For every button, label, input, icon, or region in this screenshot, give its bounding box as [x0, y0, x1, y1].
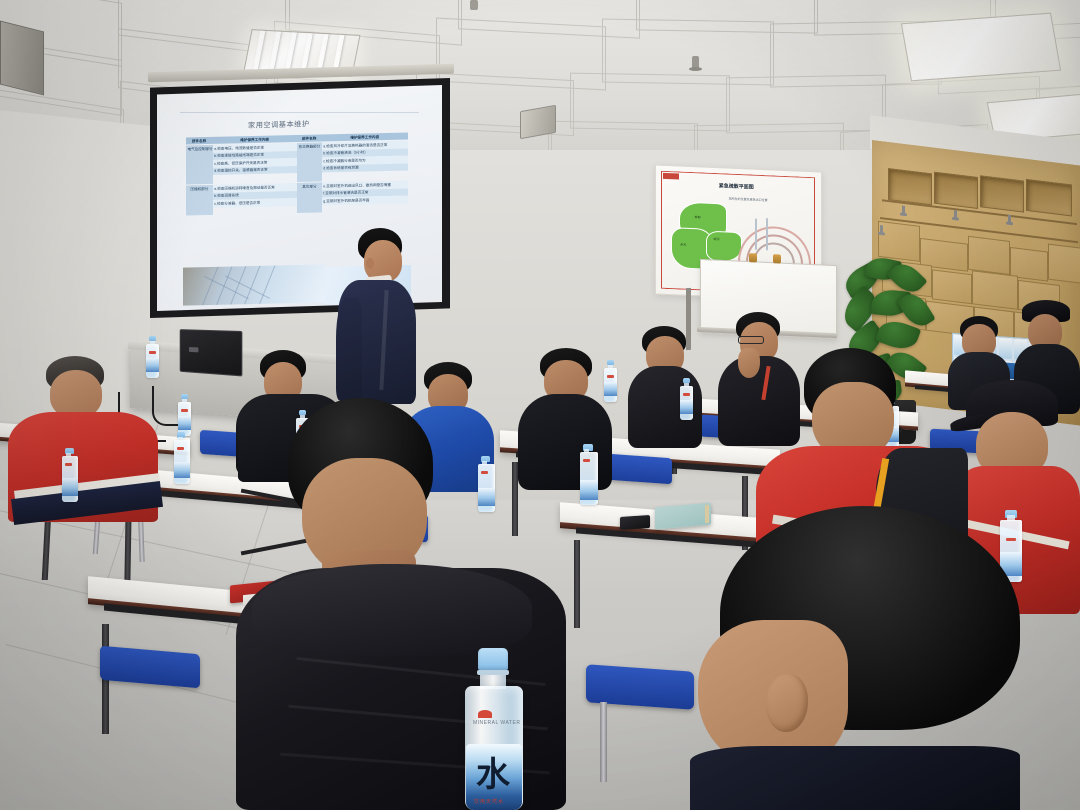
slide-table: 部件名称 维护保养工作内容 部件名称 维护保养工作内容 电气及控制部分 a.检查…	[186, 132, 408, 217]
water-bottle[interactable]	[174, 432, 190, 484]
attendee-red-navy	[8, 356, 168, 522]
water-bottle[interactable]	[580, 444, 598, 506]
presenter-ear	[366, 258, 374, 269]
bottle-brand-text: MINERAL WATER	[473, 720, 520, 726]
glasses-icon	[738, 336, 764, 344]
attendee-head	[50, 370, 102, 418]
poster-title: 紧急疏散平面图	[719, 182, 754, 190]
sprinkler-head-icon-2	[470, 0, 478, 10]
sprinkler-head-icon	[692, 56, 699, 69]
water-bottle[interactable]	[178, 394, 191, 436]
slide-th-3: 维护保养工作内容	[321, 132, 408, 141]
chair	[608, 454, 672, 484]
slide-cell: c.检查分液器、低压是否正常	[212, 198, 296, 207]
slide-table-row: 电气及控制部分 a.检查电压、电流数值是否正常 b.检查连接线路接线端是否正常 …	[186, 141, 408, 185]
bottle-cap	[478, 648, 508, 670]
chair-leg	[600, 702, 607, 782]
slide-cell: g.定期对室外机机架是否牢固	[321, 196, 408, 205]
poster-tag	[663, 173, 679, 180]
attendee-foreground-right	[690, 506, 1020, 810]
slide-row-name-right: 热交换器部分	[297, 143, 322, 183]
slide-th-2: 部件名称	[297, 134, 321, 142]
slide-row-name-left: 电气及控制部分	[186, 145, 213, 185]
slide-row2-name-right: 其它部分	[297, 183, 322, 214]
slide-th-0: 部件名称	[186, 137, 212, 145]
water-bottle[interactable]	[604, 360, 617, 402]
slide-cell: d.检查系统是否有泄漏	[321, 163, 408, 172]
puffer-hood	[252, 564, 532, 656]
smartphone[interactable]	[620, 515, 650, 530]
classroom-photo: 家用空调基本维护 部件名称 维护保养工作内容 部件名称 维护保养工作内容 电气及…	[0, 0, 1080, 810]
foreground-water-bottle[interactable]: 水 饮用天然水 MINERAL WATER	[464, 648, 526, 810]
bottle-label: 水 饮用天然水	[466, 744, 522, 810]
water-bottle[interactable]	[62, 448, 78, 502]
map-label-0: 桦甸	[694, 215, 700, 219]
table-leg	[574, 540, 580, 628]
whiteboard-magnet	[749, 253, 757, 262]
slide-cell: d.检查温控开关、温感器是否正常	[212, 166, 296, 175]
bottle-brand-logo-icon	[478, 710, 492, 718]
ceiling-light-panel-right	[901, 13, 1061, 82]
whiteboard-magnet	[773, 254, 781, 263]
slide-table-row: 压缩机部分 a.检查压缩机运转噪音及振动是否正常 b.检查润滑系统 c.检查分液…	[186, 181, 408, 216]
slide-row2-name-left: 压缩机部分	[186, 185, 213, 216]
bottle-label-subtext: 饮用天然水	[474, 798, 504, 805]
bottle-label-character: 水	[476, 758, 510, 792]
slide-th-1: 维护保养工作内容	[212, 135, 297, 144]
map-label-2: 蛟河	[713, 237, 719, 241]
water-bottle[interactable]	[146, 336, 159, 378]
attendee-torso	[690, 746, 1020, 810]
slide-decorative-image	[183, 264, 326, 306]
wall-speaker-icon	[0, 21, 44, 96]
water-bottle[interactable]	[680, 378, 693, 420]
map-label-1: 永吉	[680, 242, 686, 246]
slide-title: 家用空调基本维护	[248, 119, 310, 131]
